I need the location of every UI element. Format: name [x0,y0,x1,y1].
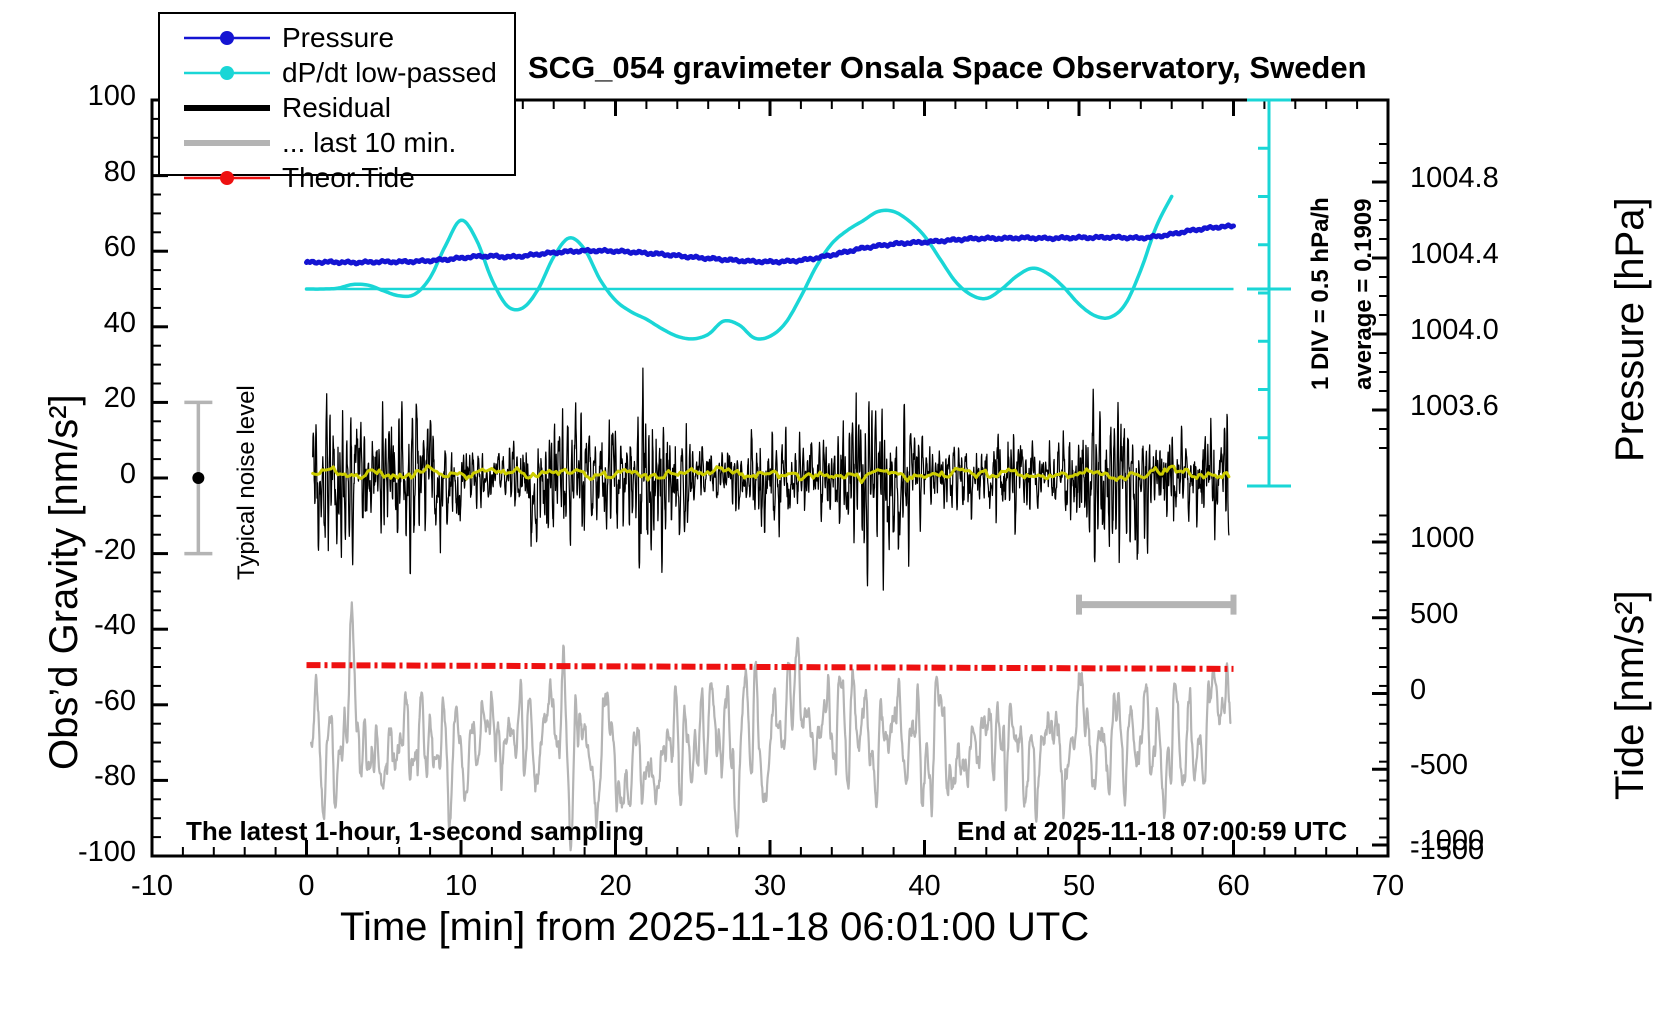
legend-item-theor-tide: Theor.Tide [160,160,514,195]
y-tick-label: 0 [120,458,136,491]
annotation-dpdt-average: average = 0.1909 [1350,199,1378,391]
series-dpdt-lowpassed [307,196,1172,339]
legend-label: ... last 10 min. [272,127,456,159]
annotation-noise-level: Typical noise level [233,385,261,580]
annotation-dpdt-scale: 1 DIV = 0.5 hPa/h [1307,197,1335,390]
legend-label: Residual [272,92,391,124]
chart-page: -10010203040506070-100-80-60-40-20020406… [0,0,1660,1020]
legend-swatch-theor-tide [182,163,272,193]
y-tick-label: -60 [94,685,136,718]
pressure-tick-label: 1004.8 [1410,162,1499,195]
legend-marker-dot [220,171,234,185]
x-tick-label: 50 [1063,870,1095,903]
x-tick-label: 20 [599,870,631,903]
x-tick-label: -10 [131,870,173,903]
tide-tick-label: -500 [1410,749,1468,782]
chart-title: SCG_054 gravimeter Onsala Space Observat… [528,50,1367,86]
y-tick-label: -80 [94,760,136,793]
legend-swatch-pressure [182,23,272,53]
legend-label: dP/dt low-passed [272,57,497,89]
x-tick-label: 40 [908,870,940,903]
series-theoretical-tide [307,665,1234,669]
y-tick-label: 80 [104,156,136,189]
legend-swatch-residual [182,93,272,123]
legend-marker-dot [220,31,234,45]
annotation-bottom-right: End at 2025-11-18 07:00:59 UTC [957,816,1347,847]
tide-tick-label: 0 [1410,674,1426,707]
legend-item-residual: Residual [160,90,514,125]
legend-item-dp-dt-low-passed: dP/dt low-passed [160,55,514,90]
x-tick-label: 30 [754,870,786,903]
legend-swatch-dp-dt-low-passed [182,58,272,88]
legend-label: Pressure [272,22,394,54]
y-tick-label: -20 [94,534,136,567]
legend-marker-dot [220,66,234,80]
series-last-10-min [311,602,1230,850]
legend-label: Theor.Tide [272,162,415,194]
x-tick-label: 70 [1372,870,1404,903]
noise-level-dot [192,472,204,484]
tide-tick-label: -1000 [1410,825,1484,858]
tide-tick-label: 1000 [1410,522,1475,555]
y2-axis-title-pressure: Pressure [hPa] [1608,197,1653,462]
y-axis-title: Obs’d Gravity [nm/s²] [42,394,87,770]
x-axis-title: Time [min] from 2025-11-18 06:01:00 UTC [340,905,1089,950]
x-tick-label: 60 [1217,870,1249,903]
y-tick-label: 40 [104,307,136,340]
y-tick-label: 60 [104,231,136,264]
tide-tick-label: 500 [1410,598,1458,631]
series-residual [313,368,1229,590]
legend-swatch-last-10-min [182,128,272,158]
annotation-bottom-left: The latest 1-hour, 1-second sampling [186,816,644,847]
y-tick-label: -40 [94,609,136,642]
pressure-tick-label: 1004.0 [1410,314,1499,347]
pressure-tick-label: 1004.4 [1410,238,1499,271]
y-tick-label: -100 [78,836,136,869]
legend-item-last-10-min: ... last 10 min. [160,125,514,160]
y-tick-label: 20 [104,382,136,415]
y-tick-label: 100 [88,80,136,113]
x-tick-label: 10 [445,870,477,903]
legend-item-pressure: Pressure [160,20,514,55]
x-tick-label: 0 [298,870,314,903]
y2-axis-title-tide: Tide [nm/s²] [1608,590,1653,800]
pressure-tick-label: 1003.6 [1410,390,1499,423]
chart-legend: PressuredP/dt low-passedResidual... last… [158,12,516,176]
